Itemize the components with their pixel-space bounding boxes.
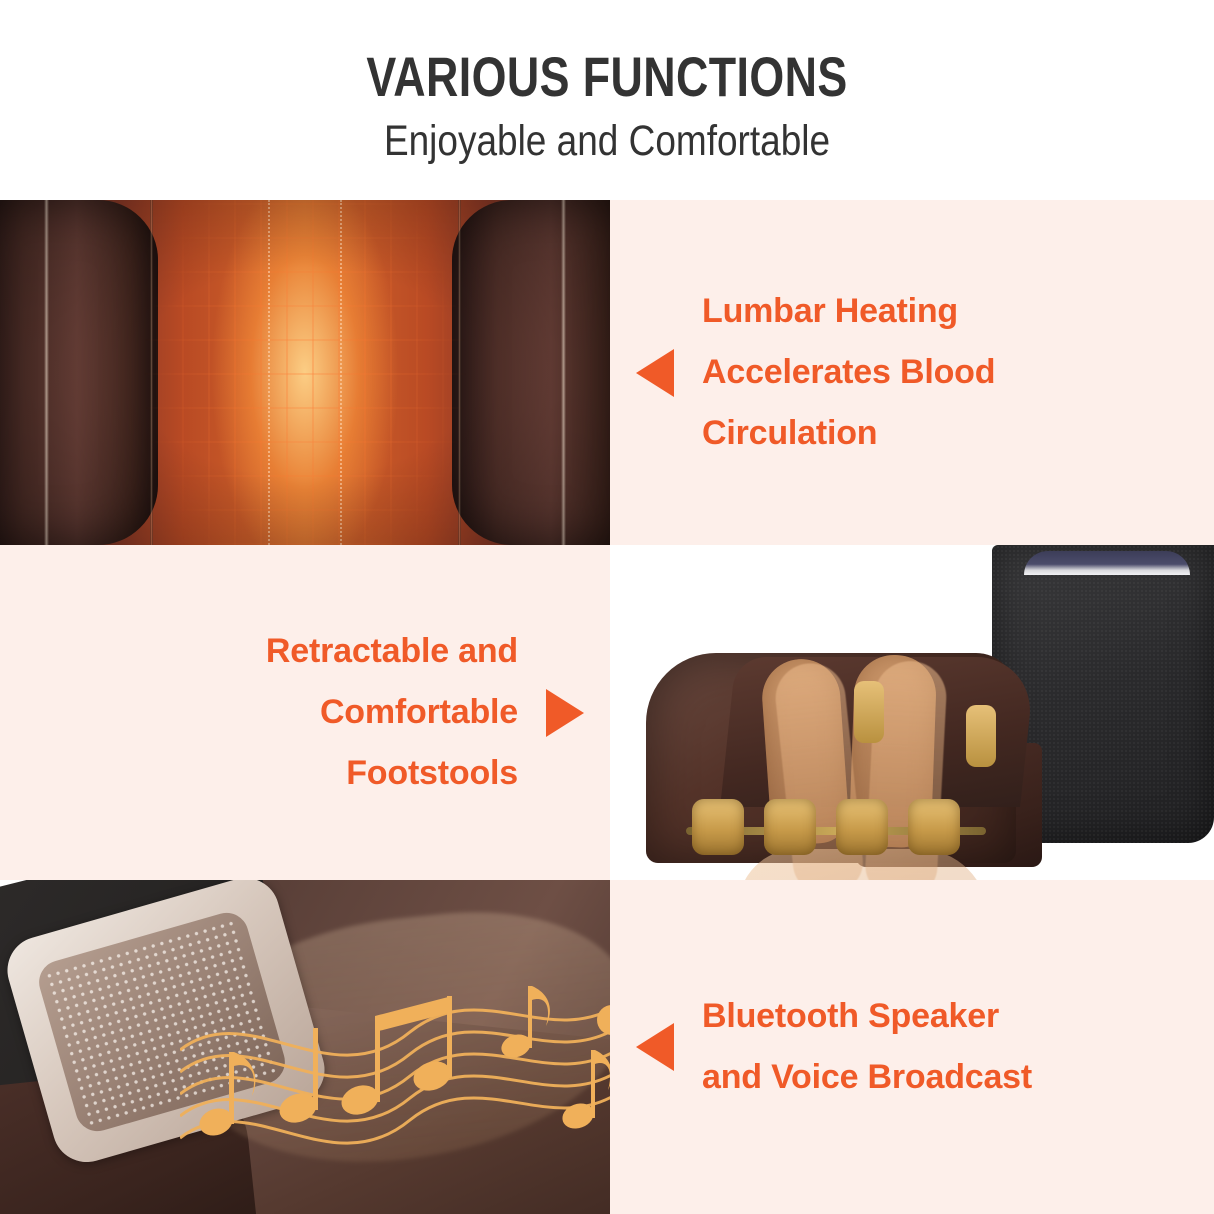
- header: VARIOUS FUNCTIONS Enjoyable and Comforta…: [0, 0, 1214, 200]
- footrest-body: [646, 653, 1016, 863]
- triangle-left-icon: [636, 349, 674, 397]
- caption-line: Accelerates Blood: [702, 342, 995, 403]
- feature-caption-panel-bluetooth-speaker: Bluetooth Speaker and Voice Broadcast: [610, 880, 1214, 1214]
- triangle-right-icon: [546, 689, 584, 737]
- feature-caption-panel-footstools: Retractable and Comfortable Footstools: [0, 545, 610, 880]
- roller-knob-side: [966, 705, 996, 767]
- feature-rows: Lumbar Heating Accelerates Blood Circula…: [0, 200, 1214, 1214]
- caption-bluetooth-speaker: Bluetooth Speaker and Voice Broadcast: [702, 986, 1032, 1108]
- chair-silver-trim: [1024, 551, 1190, 575]
- feature-caption-panel-lumbar-heating: Lumbar Heating Accelerates Blood Circula…: [610, 200, 1214, 545]
- feature-image-lumbar-heating: [0, 200, 610, 545]
- lumbar-heating-photo: [0, 200, 610, 545]
- foot-roller: [764, 799, 816, 855]
- feature-row-lumbar-heating: Lumbar Heating Accelerates Blood Circula…: [0, 200, 1214, 545]
- footstool-photo: [610, 545, 1214, 880]
- feature-image-footstools: [610, 545, 1214, 880]
- infographic-page: VARIOUS FUNCTIONS Enjoyable and Comforta…: [0, 0, 1214, 1214]
- foot-roller: [836, 799, 888, 855]
- page-title: VARIOUS FUNCTIONS: [121, 0, 1092, 106]
- caption-line: Retractable and: [266, 621, 518, 682]
- feature-image-bluetooth-speaker: [0, 880, 610, 1214]
- foot-roller: [692, 799, 744, 855]
- triangle-left-icon: [636, 1023, 674, 1071]
- roller-knob-upper: [854, 681, 884, 743]
- page-subtitle: Enjoyable and Comfortable: [85, 106, 1129, 164]
- caption-line: Comfortable: [266, 682, 518, 743]
- caption-line: Lumbar Heating: [702, 281, 995, 342]
- bluetooth-speaker-photo: [0, 880, 610, 1214]
- feature-row-bluetooth-speaker: Bluetooth Speaker and Voice Broadcast: [0, 880, 1214, 1214]
- caption-line: Bluetooth Speaker: [702, 986, 1032, 1047]
- caption-line: Circulation: [702, 403, 995, 464]
- feature-row-footstools: Retractable and Comfortable Footstools: [0, 545, 1214, 880]
- caption-line: Footstools: [266, 743, 518, 804]
- caption-line: and Voice Broadcast: [702, 1047, 1032, 1108]
- caption-footstools: Retractable and Comfortable Footstools: [266, 621, 518, 804]
- music-notes-icon: [180, 900, 610, 1200]
- foot-roller: [908, 799, 960, 855]
- photo-vignette: [0, 200, 610, 545]
- caption-lumbar-heating: Lumbar Heating Accelerates Blood Circula…: [702, 281, 995, 464]
